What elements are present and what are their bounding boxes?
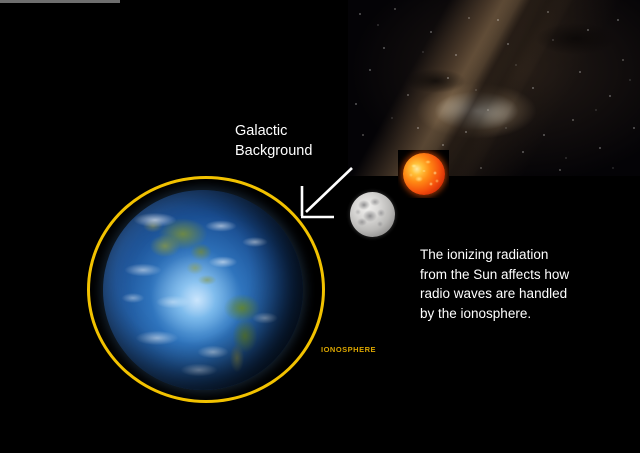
body-paragraph-line4: by the ionosphere. <box>420 304 620 324</box>
sun-image <box>398 150 449 198</box>
body-paragraph-line3: radio waves are handled <box>420 284 620 304</box>
ionosphere-ring <box>87 176 325 403</box>
body-paragraph: The ionizing radiation from the Sun affe… <box>420 245 620 323</box>
galactic-background-label-line2: Background <box>235 141 312 161</box>
galaxy-image <box>348 0 640 176</box>
galactic-background-label-line1: Galactic <box>235 121 312 141</box>
slide-canvas: IONOSPHERE Galactic Background The ioniz… <box>0 0 640 453</box>
galaxy-faint-stars-layer <box>348 0 640 176</box>
body-paragraph-line2: from the Sun affects how <box>420 265 620 285</box>
pointer-arrow-icon <box>292 160 362 226</box>
body-paragraph-line1: The ionizing radiation <box>420 245 620 265</box>
ionosphere-label: IONOSPHERE <box>321 345 376 354</box>
galactic-background-label: Galactic Background <box>235 121 312 161</box>
top-grey-bar <box>0 0 120 3</box>
sun-granulation <box>403 153 445 195</box>
